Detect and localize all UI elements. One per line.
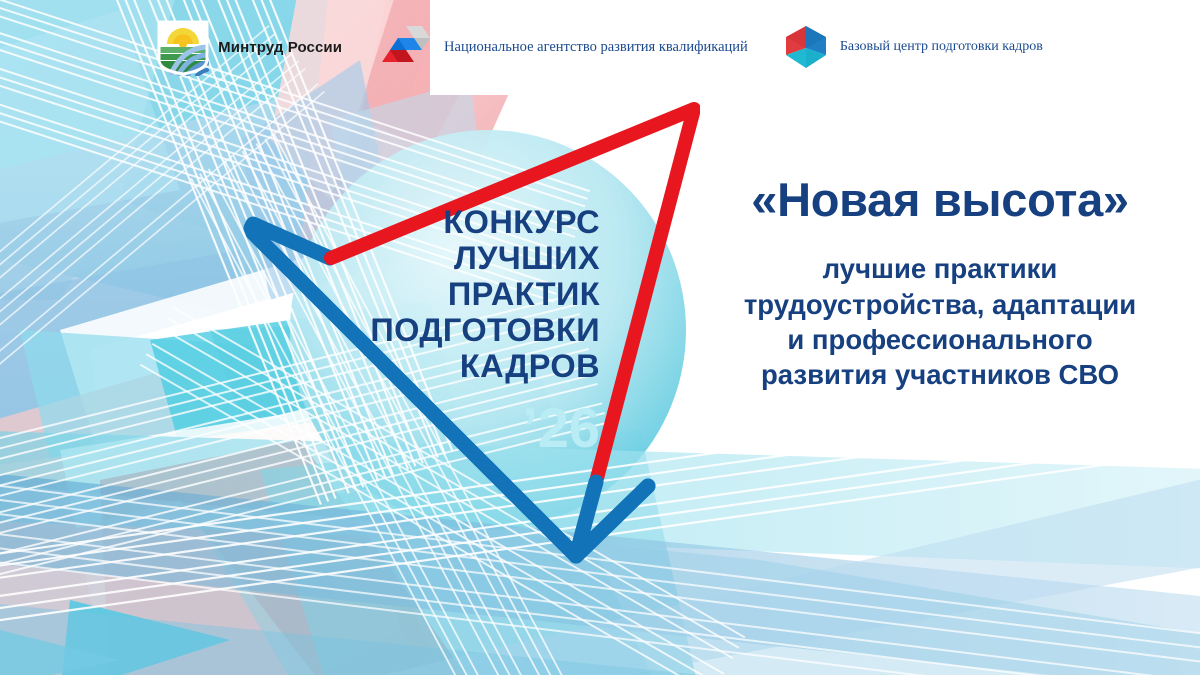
- headline-block: «Новая высота» лучшие практики трудоустр…: [690, 175, 1190, 392]
- badge-title: КОНКУРС ЛУЧШИХ ПРАКТИК ПОДГОТОВКИ КАДРОВ: [300, 205, 600, 385]
- mintrud-sun-field-icon: [157, 20, 209, 76]
- bcpk-cube-icon: [782, 22, 830, 74]
- logo-nark-label: Национальное агентство развития квалифик…: [444, 39, 748, 56]
- page-title: «Новая высота»: [690, 175, 1190, 224]
- badge-year: ’26: [300, 400, 600, 456]
- logo-bcpk: Базовый центр подготовки кадров: [782, 22, 1043, 74]
- subtitle-line-3: и профессионального: [690, 322, 1190, 357]
- badge-line-1: КОНКУРС: [300, 205, 600, 241]
- poster-canvas: Минтруд России Национальное агентство ра…: [0, 0, 1200, 675]
- badge-line-2: ЛУЧШИХ: [300, 241, 600, 277]
- subtitle-line-2: трудоустройства, адаптации: [690, 287, 1190, 322]
- nark-chevron-cube-icon: [382, 22, 434, 74]
- logo-nark: Национальное агентство развития квалифик…: [382, 22, 748, 74]
- logo-mintrud-label: Минтруд России: [218, 39, 342, 56]
- subtitle-line-4: развития участников СВО: [690, 357, 1190, 392]
- badge-line-3: ПРАКТИК: [300, 277, 600, 313]
- headline-subtitle: лучшие практики трудоустройства, адаптац…: [690, 251, 1190, 392]
- logo-row: Минтруд России Национальное агентство ра…: [0, 0, 1200, 95]
- badge-line-4: ПОДГОТОВКИ: [300, 313, 600, 349]
- logo-bcpk-label: Базовый центр подготовки кадров: [840, 39, 1043, 56]
- subtitle-line-1: лучшие практики: [690, 251, 1190, 286]
- logo-mintrud: Минтруд России: [157, 20, 342, 76]
- badge-line-5: КАДРОВ: [300, 349, 600, 385]
